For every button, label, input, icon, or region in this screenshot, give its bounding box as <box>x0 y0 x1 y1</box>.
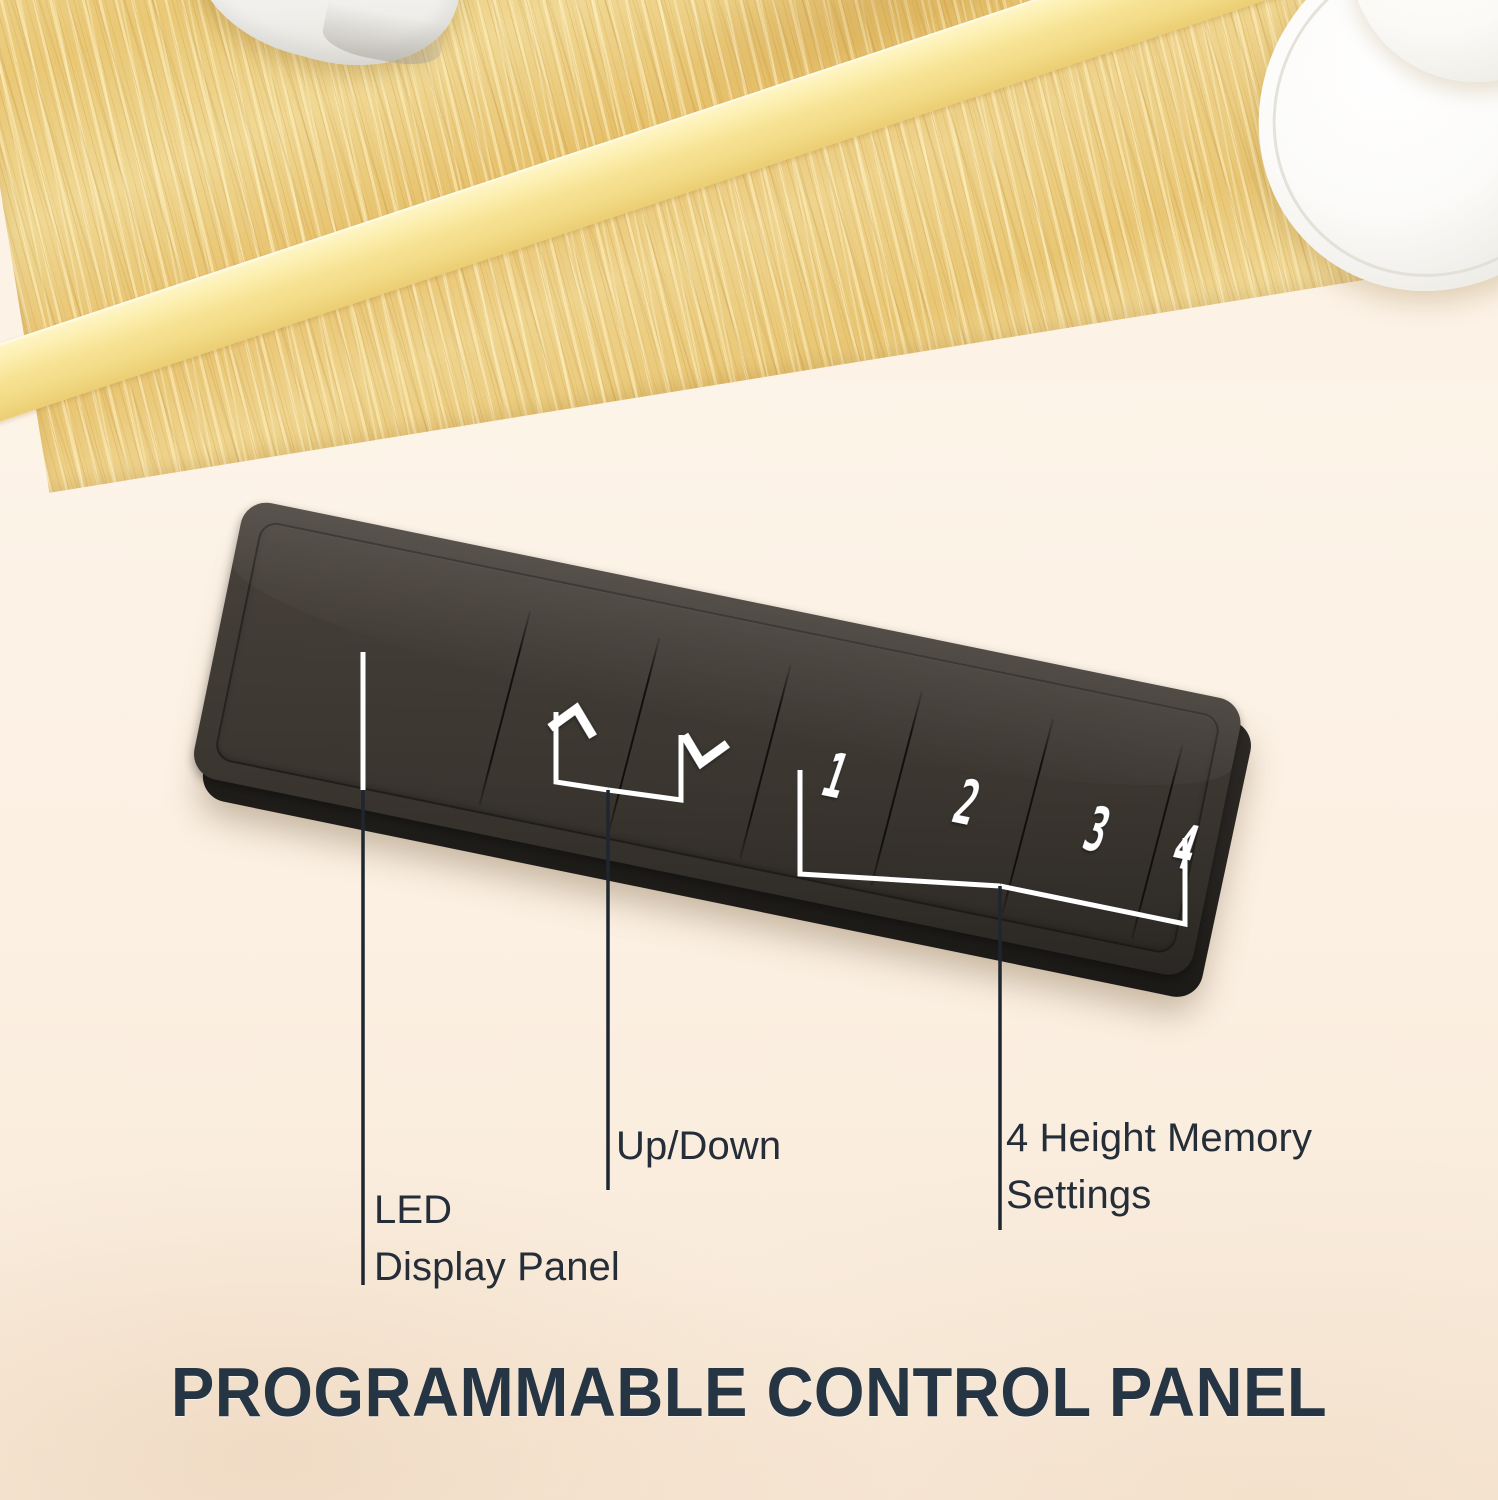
mouse-seam <box>319 1 446 71</box>
chevron-up-icon <box>538 687 609 758</box>
infographic-stage: 1 2 3 4 LED Display Panel Up/Down 4 Heig… <box>0 0 1498 1500</box>
desk-front-edge <box>0 0 1462 440</box>
memory-4-label: 4 <box>1165 816 1204 879</box>
page-title: PROGRAMMABLE CONTROL PANEL <box>52 1352 1445 1432</box>
memory-1-label: 1 <box>816 745 855 808</box>
callout-led-display-panel: LED Display Panel <box>374 1182 620 1296</box>
callout-up-down: Up/Down <box>616 1118 781 1175</box>
memory-2-label: 2 <box>947 772 986 835</box>
memory-3-label: 3 <box>1077 798 1116 861</box>
callout-memory-settings: 4 Height Memory Settings <box>1006 1110 1406 1224</box>
chevron-down-icon <box>668 714 739 785</box>
